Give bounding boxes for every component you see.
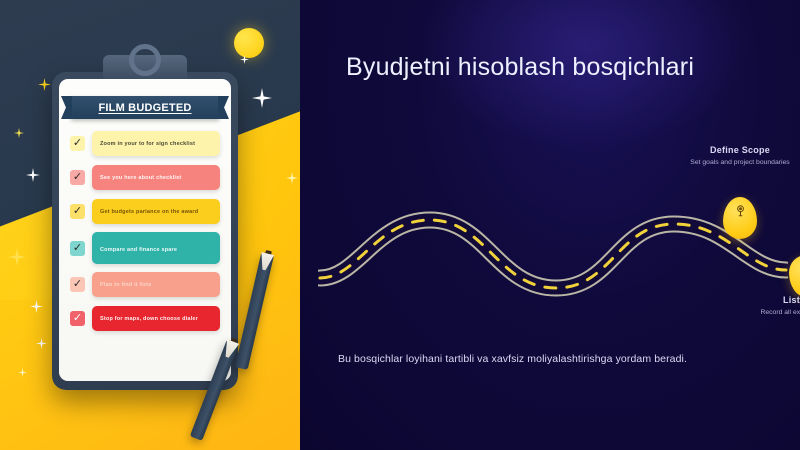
slide-footer-caption: Bu bosqichlar loyihani tartibli va xavfs… (338, 352, 778, 368)
checklist-item-label: Plan to find it lists (100, 282, 152, 288)
document-list-glyph (797, 271, 800, 290)
roadmap-diagram: Define Scope Set goals and project bound… (300, 145, 800, 345)
pencil-tip-icon (264, 250, 271, 257)
sparkle-icon (30, 300, 43, 313)
checklist-item[interactable]: ✓ Compare and finance spare (70, 232, 220, 264)
checklist-bar: Stop for maps, down choose dialer (92, 306, 220, 331)
slide-root: FILM BUDGETED ✓ Zoom in your to for sign… (0, 0, 800, 450)
checklist-item[interactable]: ✓ Get budgets pariance on the award (70, 198, 220, 225)
checklist-bar: Plan to find it lists (92, 272, 220, 297)
location-pin-icon[interactable] (723, 197, 757, 239)
roadmap-step-3[interactable]: List Costs Record all expected expenses (741, 295, 800, 318)
sparkle-icon (240, 55, 249, 64)
content-panel: Byudjetni hisoblash bosqichlari Define S… (300, 0, 800, 450)
roadmap-step-label: List Costs (741, 295, 800, 305)
road-path-icon (318, 200, 788, 305)
checklist-item[interactable]: ✓ See you here about checklist (70, 164, 220, 191)
document-list-icon[interactable] (789, 255, 800, 297)
checkbox-icon[interactable]: ✓ (70, 136, 85, 151)
checkbox-icon[interactable]: ✓ (70, 204, 85, 219)
checklist-item-label: Zoom in your to for sign checklist (100, 141, 195, 147)
checklist-bar: Zoom in your to for sign checklist (92, 131, 220, 156)
checklist-item-label: Stop for maps, down choose dialer (100, 316, 198, 322)
checklist-bar: See you here about checklist (92, 165, 220, 190)
sparkle-icon (8, 248, 26, 266)
checkbox-icon[interactable]: ✓ (70, 241, 85, 256)
page-title: Byudjetni hisoblash bosqichlari (346, 50, 766, 85)
sparkle-icon (36, 338, 47, 349)
sparkle-icon (14, 128, 24, 138)
clipboard-clip-icon (103, 55, 187, 81)
roadmap-step-label: Define Scope (675, 145, 800, 155)
checkbox-icon[interactable]: ✓ (70, 277, 85, 292)
checklist-item[interactable]: ✓ Zoom in your to for sign checklist (70, 130, 220, 157)
roadmap-step-desc: Record all expected expenses (741, 308, 800, 318)
sparkle-icon (286, 172, 298, 184)
clipboard-paper: FILM BUDGETED ✓ Zoom in your to for sign… (59, 79, 231, 381)
sparkle-icon (38, 78, 51, 91)
location-pin-glyph (731, 201, 750, 220)
checklist-banner: FILM BUDGETED (71, 96, 219, 119)
sparkle-icon (18, 368, 27, 377)
checklist-item-label: Get budgets pariance on the award (100, 209, 198, 215)
checkbox-icon[interactable]: ✓ (70, 170, 85, 185)
checklist-banner-label: FILM BUDGETED (98, 102, 191, 114)
clipboard: FILM BUDGETED ✓ Zoom in your to for sign… (52, 72, 238, 390)
checklist-item[interactable]: ✓ Stop for maps, down choose dialer (70, 305, 220, 332)
checklist-item-label: See you here about checklist (100, 175, 181, 181)
checklist-item[interactable]: ✓ Plan to find it lists (70, 271, 220, 298)
sparkle-icon (252, 88, 272, 108)
illustration-panel: FILM BUDGETED ✓ Zoom in your to for sign… (0, 0, 300, 450)
checklist-item-label: Compare and finance spare (100, 247, 177, 253)
pencil-tip-icon (229, 338, 237, 346)
checkbox-icon[interactable]: ✓ (70, 311, 85, 326)
checklist-bar: Compare and finance spare (92, 232, 220, 264)
sparkle-icon (26, 168, 40, 182)
checklist-bar: Get budgets pariance on the award (92, 199, 220, 224)
sun-circle-icon (234, 28, 264, 58)
roadmap-step-1[interactable]: Define Scope Set goals and project bound… (675, 145, 800, 168)
roadmap-step-desc: Set goals and project boundaries (675, 158, 800, 168)
